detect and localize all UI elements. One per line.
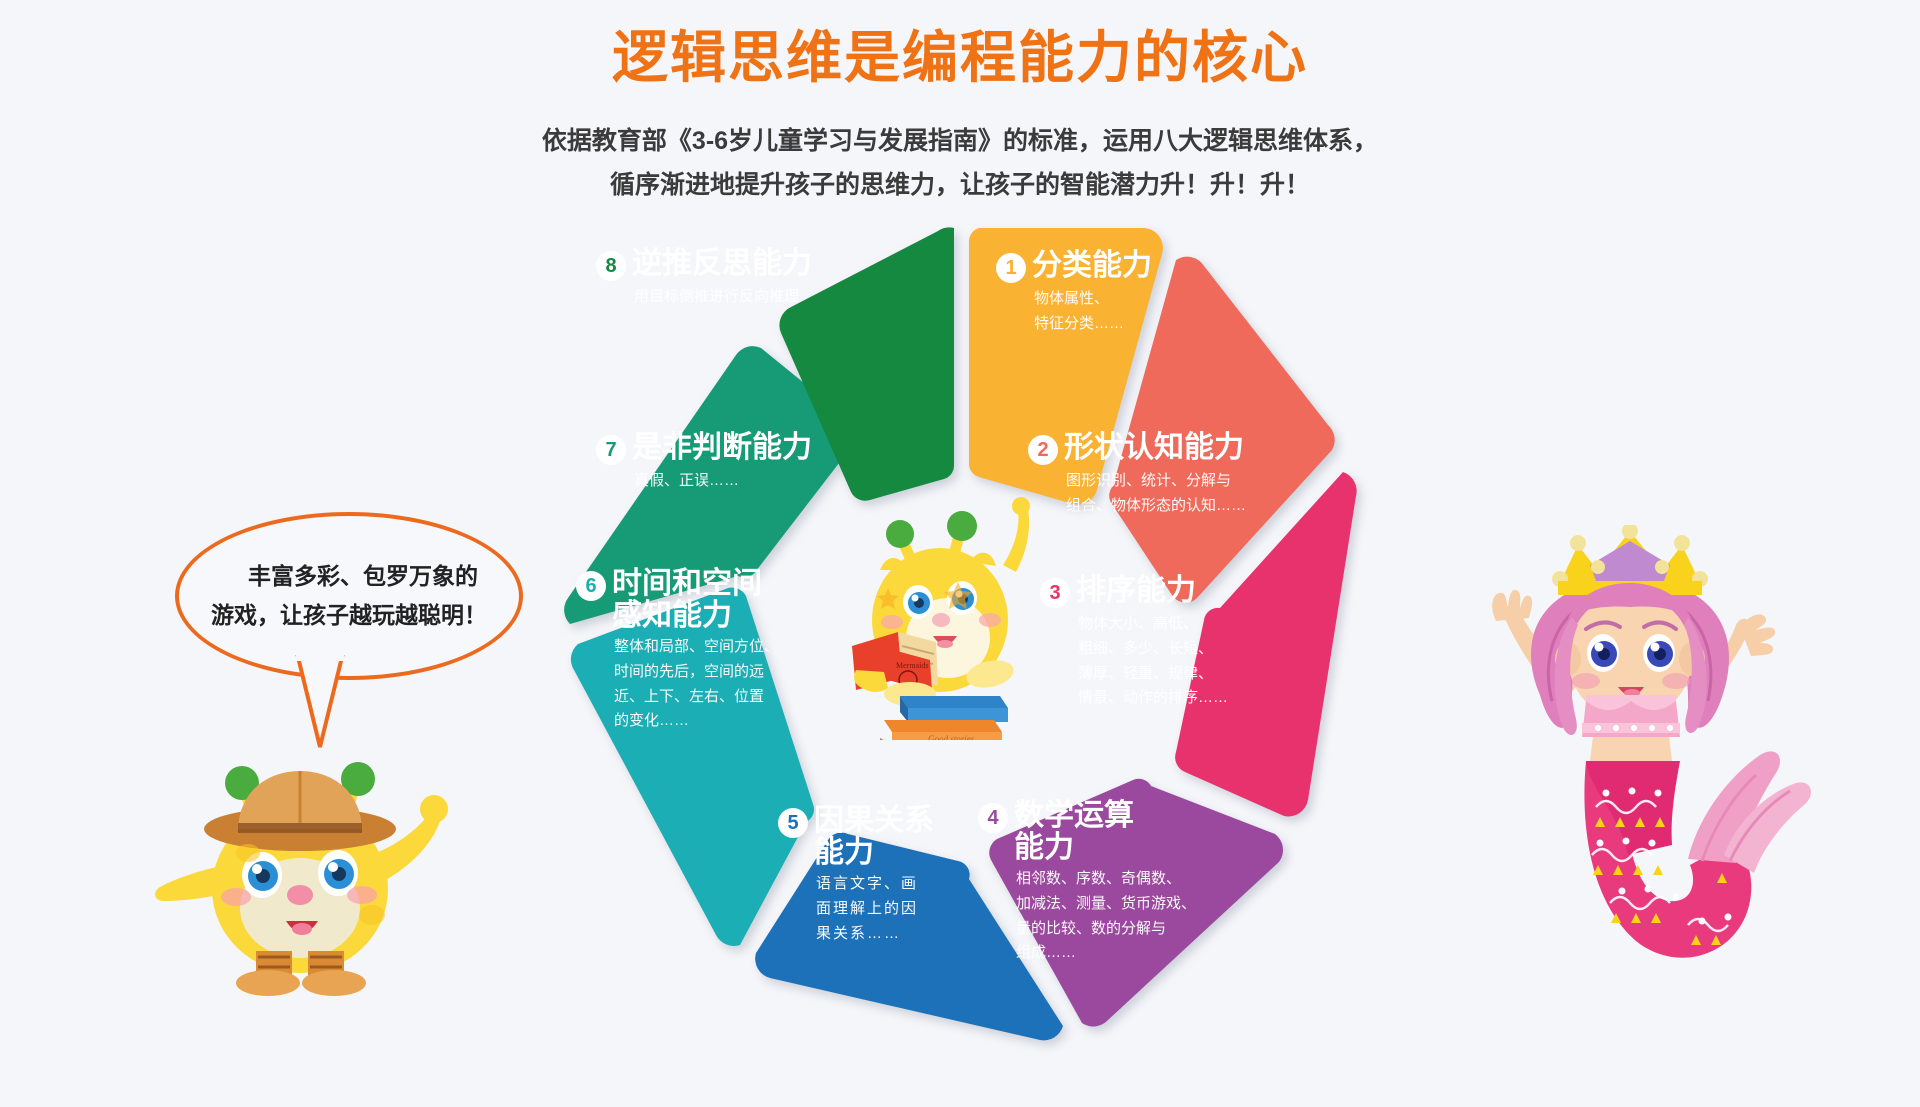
wheel-segment-5-label: 5 因果关系 能力 语言文字、画 面理解上的因 果关系…… xyxy=(778,805,988,946)
left-mascot-explorer-cat-icon xyxy=(140,745,460,1005)
wheel-segment-7-title: 是非判断能力 xyxy=(632,432,812,464)
wheel-segment-2-title: 形状认知能力 xyxy=(1064,432,1244,464)
wheel-segment-7-heading: 7 是非判断能力 xyxy=(596,432,896,465)
speech-bubble-text: 丰富多彩、包罗万象的 游戏，让孩子越玩越聪明！ xyxy=(199,557,499,635)
svg-text:Mermaids: Mermaids xyxy=(896,661,928,670)
wheel-segment-4-number: 4 xyxy=(978,803,1008,833)
wheel-segment-2-desc: 图形识别、统计、分解与 组合、物体形态的认知…… xyxy=(1066,469,1358,519)
page-title: 逻辑思维是编程能力的核心 xyxy=(0,24,1920,91)
wheel-segment-8-heading: 8 逆推反思能力 xyxy=(596,248,916,281)
speech-bubble-tail-icon xyxy=(290,655,350,750)
wheel-segment-6-heading: 6 时间和空间 感知能力 xyxy=(576,568,876,631)
wheel-segment-6-number: 6 xyxy=(576,571,606,601)
wheel-segment-2-heading: 2 形状认知能力 xyxy=(1028,432,1358,465)
logic-ability-wheel: 8 逆推反思能力 用目标倒推进行反向推理 1 分类能力 物体属性、 特征分类……… xyxy=(548,200,1398,1060)
wheel-segment-5-heading: 5 因果关系 能力 xyxy=(778,805,988,868)
speech-bubble-line-1: 丰富多彩、包罗万象的 xyxy=(199,557,499,596)
speech-bubble-line-2: 游戏，让孩子越玩越聪明！ xyxy=(199,596,499,635)
wheel-segment-8-label: 8 逆推反思能力 用目标倒推进行反向推理 xyxy=(596,248,916,310)
wheel-segment-4-title: 数学运算 能力 xyxy=(1014,800,1134,863)
poster-root: 逻辑思维是编程能力的核心 依据教育部《3-6岁儿童学习与发展指南》的标准，运用八… xyxy=(0,0,1920,1107)
center-mascot-cat-icon: Mermaids Good stories Books xyxy=(840,470,1090,740)
wheel-segment-1-heading: 1 分类能力 xyxy=(996,250,1296,283)
wheel-segment-5-number: 5 xyxy=(778,808,808,838)
wheel-segment-1-number: 1 xyxy=(996,253,1026,283)
wheel-segment-6-desc: 整体和局部、空间方位、 时间的先后，空间的远 近、上下、左右、位置 的变化…… xyxy=(614,635,876,734)
page-subtitle: 依据教育部《3-6岁儿童学习与发展指南》的标准，运用八大逻辑思维体系， 循序渐进… xyxy=(0,120,1920,208)
svg-text:Good stories: Good stories xyxy=(928,734,975,740)
wheel-segment-2-number: 2 xyxy=(1028,435,1058,465)
wheel-segment-8-desc: 用目标倒推进行反向推理 xyxy=(634,285,916,310)
wheel-segment-5-desc: 语言文字、画 面理解上的因 果关系…… xyxy=(816,872,988,946)
book-stack-icon: Good stories Books xyxy=(880,696,1022,740)
subtitle-line-1: 依据教育部《3-6岁儿童学习与发展指南》的标准，运用八大逻辑思维体系， xyxy=(0,120,1920,164)
wheel-segment-8-number: 8 xyxy=(596,251,626,281)
wheel-segment-1-label: 1 分类能力 物体属性、 特征分类…… xyxy=(996,250,1296,337)
wheel-segment-1-desc: 物体属性、 特征分类…… xyxy=(1034,287,1296,337)
wheel-segment-4-heading: 4 数学运算 能力 xyxy=(978,800,1278,863)
wheel-segment-7-number: 7 xyxy=(596,435,626,465)
mermaid-princess-icon xyxy=(1440,525,1820,995)
wheel-segment-6-label: 6 时间和空间 感知能力 整体和局部、空间方位、 时间的先后，空间的远 近、上下… xyxy=(576,568,876,734)
wheel-segment-6-title: 时间和空间 感知能力 xyxy=(612,568,762,631)
wheel-segment-3-desc: 物体大小、高低、 粗细、多少、长短、 薄厚、轻重、规律、 情景、动作的排序…… xyxy=(1078,612,1350,711)
wheel-segment-8-title: 逆推反思能力 xyxy=(632,248,812,280)
wheel-segment-3-title: 排序能力 xyxy=(1076,575,1196,607)
wheel-segment-1-title: 分类能力 xyxy=(1032,250,1152,282)
wheel-segment-4-label: 4 数学运算 能力 相邻数、序数、奇偶数、 加减法、测量、货币游戏、 量的比较、… xyxy=(978,800,1278,966)
wheel-segment-4-desc: 相邻数、序数、奇偶数、 加减法、测量、货币游戏、 量的比较、数的分解与 组成…… xyxy=(1016,867,1278,966)
wheel-segment-5-title: 因果关系 能力 xyxy=(814,805,934,868)
